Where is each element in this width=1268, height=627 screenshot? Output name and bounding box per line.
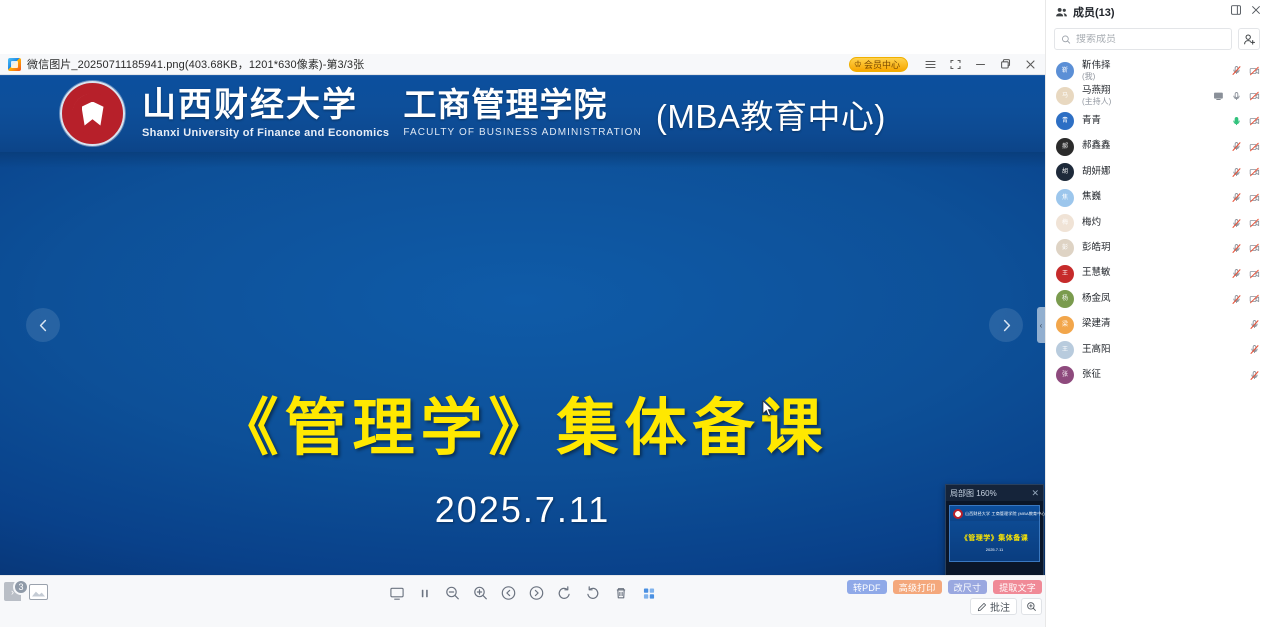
toolbar-center-group bbox=[384, 581, 661, 605]
member-row[interactable]: 梁梁建清 bbox=[1046, 312, 1268, 337]
extract-text-button[interactable]: 提取文字 bbox=[993, 580, 1042, 594]
members-search-row bbox=[1046, 24, 1268, 56]
member-row[interactable]: 青青青 bbox=[1046, 109, 1268, 134]
mic-status[interactable] bbox=[1249, 319, 1260, 330]
slide-header: 山西财经大学 Shanxi University of Finance and … bbox=[0, 75, 1045, 152]
maximize-button[interactable] bbox=[993, 54, 1018, 75]
camera-muted-icon bbox=[1249, 166, 1260, 178]
avatar: 靳 bbox=[1056, 62, 1074, 80]
chevron-right-circle-icon bbox=[529, 585, 545, 601]
panel-collapse-handle[interactable]: ‹ bbox=[1037, 307, 1045, 343]
avatar: 杨 bbox=[1056, 290, 1074, 308]
member-status-icons bbox=[1249, 319, 1260, 330]
member-name: 梁建清 bbox=[1082, 319, 1241, 330]
member-row[interactable]: 马马燕翔(主持人) bbox=[1046, 83, 1268, 108]
member-name-block: 彭皓玥 bbox=[1082, 243, 1223, 254]
member-status-icons bbox=[1231, 243, 1260, 254]
member-status-icons bbox=[1249, 344, 1260, 355]
mic-status[interactable] bbox=[1231, 243, 1242, 254]
university-name-en: Shanxi University of Finance and Economi… bbox=[142, 127, 389, 139]
zoom-out-button[interactable] bbox=[440, 581, 465, 605]
member-row[interactable]: 王王慧敏 bbox=[1046, 261, 1268, 286]
member-status-icons bbox=[1231, 167, 1260, 178]
detail-window-close-icon[interactable]: ✕ bbox=[1031, 488, 1039, 499]
members-panel-actions bbox=[1230, 3, 1262, 21]
mic-muted-icon bbox=[1249, 319, 1260, 330]
mic-muted-icon bbox=[1249, 370, 1260, 381]
detail-mini-title: 《管理学》集体备课 bbox=[950, 533, 1039, 543]
slide-header-text: 山西财经大学 Shanxi University of Finance and … bbox=[142, 88, 886, 140]
mba-center-label: (MBA教育中心) bbox=[656, 90, 886, 138]
camera-muted-icon bbox=[1249, 141, 1260, 153]
advanced-print-label: 高级打印 bbox=[899, 581, 936, 594]
slide-title: 《管理学》集体备课 bbox=[0, 377, 1045, 467]
university-crest-icon bbox=[60, 81, 125, 146]
zoom-in-icon bbox=[473, 585, 489, 601]
delete-button[interactable] bbox=[608, 581, 633, 605]
member-status-icons bbox=[1231, 65, 1260, 76]
avatar: 马 bbox=[1056, 87, 1074, 105]
viewer-window-controls: ♔ 会员中心 bbox=[849, 54, 1043, 75]
magnifier-button[interactable] bbox=[1021, 598, 1042, 615]
next-image-button[interactable] bbox=[524, 581, 549, 605]
member-name: 胡妍娜 bbox=[1082, 167, 1223, 178]
member-name-block: 梅灼 bbox=[1082, 218, 1223, 229]
toolbar-mini-actions: 批注 bbox=[970, 598, 1042, 615]
members-panel-title: 成员(13) bbox=[1073, 4, 1115, 20]
member-status-icons bbox=[1231, 141, 1260, 152]
toolbar-right-group: 转PDF 高级打印 改尺寸 提取文字 bbox=[847, 580, 1042, 615]
avatar: 郝 bbox=[1056, 138, 1074, 156]
chevron-left-circle-icon bbox=[501, 585, 517, 601]
camera-muted-icon bbox=[1249, 192, 1260, 204]
member-row[interactable]: 张张征 bbox=[1046, 363, 1268, 388]
previous-slide-arrow[interactable] bbox=[26, 308, 60, 342]
mic-status[interactable] bbox=[1249, 370, 1260, 381]
minimize-button[interactable] bbox=[968, 54, 993, 75]
mic-status[interactable] bbox=[1231, 91, 1242, 102]
screen-root: 微信图片_20250711185941.png(403.68KB，1201*63… bbox=[0, 0, 1268, 627]
member-status-icons bbox=[1231, 116, 1260, 127]
member-status-icons bbox=[1213, 91, 1260, 102]
mic-muted-icon bbox=[1231, 141, 1242, 152]
membership-center-button[interactable]: ♔ 会员中心 bbox=[849, 57, 908, 72]
close-icon bbox=[1250, 4, 1262, 16]
grid-view-button[interactable] bbox=[636, 581, 661, 605]
member-name: 杨金凤 bbox=[1082, 294, 1223, 305]
rotate-right-button[interactable] bbox=[580, 581, 605, 605]
camera-status[interactable] bbox=[1249, 91, 1260, 102]
mic-status[interactable] bbox=[1231, 167, 1242, 178]
resize-button[interactable]: 改尺寸 bbox=[948, 580, 988, 594]
camera-muted-icon bbox=[1249, 90, 1260, 102]
popout-panel-button[interactable] bbox=[1230, 3, 1242, 21]
mic-status[interactable] bbox=[1231, 218, 1242, 229]
member-name: 靳伟择 bbox=[1082, 61, 1223, 72]
grid-icon bbox=[641, 586, 656, 601]
invite-member-button[interactable] bbox=[1238, 28, 1260, 50]
mic-muted-icon bbox=[1231, 268, 1242, 279]
search-input-wrapper[interactable] bbox=[1054, 28, 1232, 50]
mouse-cursor-icon bbox=[762, 400, 774, 417]
member-status-icons bbox=[1231, 218, 1260, 229]
membership-label: 会员中心 bbox=[864, 58, 900, 71]
camera-status[interactable] bbox=[1249, 268, 1260, 279]
pen-icon bbox=[977, 602, 987, 612]
member-name-block: 王高阳 bbox=[1082, 345, 1241, 356]
member-row[interactable]: 焦焦巍 bbox=[1046, 185, 1268, 210]
convert-pdf-label: 转PDF bbox=[853, 581, 881, 594]
members-list[interactable]: 靳靳伟择(我) 马马燕翔(主持人) 青青青 郝郝鑫鑫 胡胡妍娜 焦焦巍 梅梅灼 … bbox=[1046, 56, 1268, 627]
mini-crest-icon bbox=[953, 509, 963, 519]
faculty-name-en: FACULTY OF BUSINESS ADMINISTRATION bbox=[403, 127, 642, 138]
annotate-label: 批注 bbox=[990, 599, 1010, 614]
member-status-icons bbox=[1231, 192, 1260, 203]
member-name: 王慧敏 bbox=[1082, 268, 1223, 279]
member-row[interactable]: 靳靳伟择(我) bbox=[1046, 58, 1268, 83]
image-viewer-window: 微信图片_20250711185941.png(403.68KB，1201*63… bbox=[0, 54, 1045, 627]
member-status-icons bbox=[1249, 370, 1260, 381]
screen-share-status[interactable] bbox=[1213, 91, 1224, 102]
chevron-right-icon bbox=[999, 318, 1014, 333]
chevron-left-icon bbox=[36, 318, 51, 333]
member-name-block: 焦巍 bbox=[1082, 192, 1223, 203]
member-name: 彭皓玥 bbox=[1082, 243, 1223, 254]
camera-muted-icon bbox=[1249, 293, 1260, 305]
previous-image-button[interactable] bbox=[496, 581, 521, 605]
mic-status[interactable] bbox=[1231, 116, 1242, 127]
member-name-block: 杨金凤 bbox=[1082, 294, 1223, 305]
avatar: 王 bbox=[1056, 265, 1074, 283]
next-slide-arrow[interactable] bbox=[989, 308, 1023, 342]
viewer-title: 微信图片_20250711185941.png(403.68KB，1201*63… bbox=[27, 56, 364, 72]
member-status-icons bbox=[1231, 294, 1260, 305]
mic-status[interactable] bbox=[1231, 268, 1242, 279]
member-name-block: 郝鑫鑫 bbox=[1082, 141, 1223, 152]
viewer-toolbar: › 3 bbox=[0, 575, 1045, 627]
search-icon bbox=[1061, 34, 1071, 45]
avatar: 焦 bbox=[1056, 189, 1074, 207]
pause-icon bbox=[417, 586, 432, 601]
avatar: 彭 bbox=[1056, 239, 1074, 257]
member-name: 青青 bbox=[1082, 116, 1223, 127]
camera-status[interactable] bbox=[1249, 294, 1260, 305]
detail-window-titlebar: 局部图 160% ✕ bbox=[946, 485, 1043, 501]
member-name-block: 梁建清 bbox=[1082, 319, 1241, 330]
mic-muted-icon bbox=[1231, 294, 1242, 305]
mic-muted-icon bbox=[1231, 167, 1242, 178]
rotate-left-icon bbox=[557, 585, 573, 601]
member-name: 王高阳 bbox=[1082, 345, 1241, 356]
zoom-out-icon bbox=[445, 585, 461, 601]
member-name: 马燕翔 bbox=[1082, 86, 1205, 97]
member-name-block: 马燕翔(主持人) bbox=[1082, 86, 1205, 106]
camera-muted-icon bbox=[1249, 242, 1260, 254]
monitor-icon bbox=[389, 586, 404, 601]
mic-active-icon bbox=[1231, 116, 1242, 127]
people-icon bbox=[1055, 6, 1068, 19]
members-panel-header: 成员(13) bbox=[1046, 0, 1268, 24]
member-role: (主持人) bbox=[1082, 97, 1205, 106]
close-button[interactable] bbox=[1018, 54, 1043, 75]
magnifier-icon bbox=[1026, 601, 1037, 612]
camera-muted-icon bbox=[1249, 217, 1260, 229]
member-name: 梅灼 bbox=[1082, 218, 1223, 229]
member-row[interactable]: 梅梅灼 bbox=[1046, 210, 1268, 235]
detail-mini-date: 2025.7.11 bbox=[950, 547, 1039, 552]
member-role: (我) bbox=[1082, 72, 1223, 81]
add-person-icon bbox=[1243, 33, 1256, 46]
toolbar-left-group: › 3 bbox=[4, 582, 48, 601]
member-name-block: 青青 bbox=[1082, 116, 1223, 127]
slide-date: 2025.7.11 bbox=[0, 489, 1045, 531]
mic-status[interactable] bbox=[1231, 65, 1242, 76]
mic-muted-icon bbox=[1231, 65, 1242, 76]
camera-status[interactable] bbox=[1249, 192, 1260, 203]
mic-icon bbox=[1231, 91, 1242, 102]
member-name-block: 张征 bbox=[1082, 370, 1241, 381]
member-row[interactable]: 郝郝鑫鑫 bbox=[1046, 134, 1268, 159]
detail-view-window[interactable]: 局部图 160% ✕ 山西财经大学 工商管理学院 (MBA教育中心) 《管理学》… bbox=[945, 484, 1044, 575]
mic-muted-icon bbox=[1249, 344, 1260, 355]
annotate-button[interactable]: 批注 bbox=[970, 598, 1017, 615]
avatar: 王 bbox=[1056, 341, 1074, 359]
sidebar-toggle[interactable]: › 3 bbox=[4, 582, 21, 601]
mic-muted-icon bbox=[1231, 192, 1242, 203]
resize-label: 改尺寸 bbox=[954, 581, 982, 594]
member-row[interactable]: 彭彭皓玥 bbox=[1046, 236, 1268, 261]
faculty-name-cn: 工商管理学院 bbox=[403, 88, 642, 123]
menu-button[interactable] bbox=[918, 54, 943, 75]
member-name: 郝鑫鑫 bbox=[1082, 141, 1223, 152]
rotate-left-button[interactable] bbox=[552, 581, 577, 605]
camera-muted-icon bbox=[1249, 65, 1260, 77]
thumbnail-toggle[interactable] bbox=[29, 584, 48, 600]
detail-mini-header: 山西财经大学 工商管理学院 (MBA教育中心) bbox=[950, 506, 1039, 521]
fullscreen-button[interactable] bbox=[943, 54, 968, 75]
member-name-block: 胡妍娜 bbox=[1082, 167, 1223, 178]
rotate-right-icon bbox=[585, 585, 601, 601]
mic-status[interactable] bbox=[1231, 192, 1242, 203]
member-row[interactable]: 杨杨金凤 bbox=[1046, 287, 1268, 312]
image-canvas[interactable]: 山西财经大学 Shanxi University of Finance and … bbox=[0, 75, 1045, 575]
extract-text-label: 提取文字 bbox=[999, 581, 1036, 594]
detail-mini-slide: 山西财经大学 工商管理学院 (MBA教育中心) 《管理学》集体备课 2025.7… bbox=[949, 505, 1040, 562]
advanced-print-button[interactable]: 高级打印 bbox=[893, 580, 942, 594]
camera-status[interactable] bbox=[1249, 218, 1260, 229]
camera-status[interactable] bbox=[1249, 243, 1260, 254]
avatar: 梁 bbox=[1056, 316, 1074, 334]
avatar: 梅 bbox=[1056, 214, 1074, 232]
mic-muted-icon bbox=[1231, 243, 1242, 254]
popout-icon bbox=[1230, 4, 1242, 16]
detail-window-title: 局部图 160% bbox=[950, 488, 1031, 499]
crown-icon: ♔ bbox=[854, 60, 862, 69]
camera-muted-icon bbox=[1249, 115, 1260, 127]
university-name-cn: 山西财经大学 bbox=[142, 88, 389, 124]
member-row[interactable]: 胡胡妍娜 bbox=[1046, 160, 1268, 185]
screen-share-icon bbox=[1213, 90, 1224, 102]
avatar: 青 bbox=[1056, 112, 1074, 130]
trash-icon bbox=[613, 586, 628, 601]
zoom-in-button[interactable] bbox=[468, 581, 493, 605]
member-row[interactable]: 王王高阳 bbox=[1046, 337, 1268, 362]
member-name-block: 王慧敏 bbox=[1082, 268, 1223, 279]
avatar: 张 bbox=[1056, 366, 1074, 384]
present-button[interactable] bbox=[384, 581, 409, 605]
search-input[interactable] bbox=[1076, 34, 1225, 45]
convert-pdf-button[interactable]: 转PDF bbox=[847, 580, 887, 594]
slide-image: 山西财经大学 Shanxi University of Finance and … bbox=[0, 75, 1045, 575]
mic-status[interactable] bbox=[1231, 294, 1242, 305]
viewer-titlebar: 微信图片_20250711185941.png(403.68KB，1201*63… bbox=[0, 54, 1045, 75]
mic-muted-icon bbox=[1231, 218, 1242, 229]
avatar: 胡 bbox=[1056, 163, 1074, 181]
member-status-icons bbox=[1231, 268, 1260, 279]
detail-window-body: 山西财经大学 工商管理学院 (MBA教育中心) 《管理学》集体备课 2025.7… bbox=[946, 501, 1043, 575]
close-panel-button[interactable] bbox=[1250, 3, 1262, 21]
member-name: 焦巍 bbox=[1082, 192, 1223, 203]
photo-viewer-icon bbox=[8, 58, 21, 71]
slideshow-pause-button[interactable] bbox=[412, 581, 437, 605]
mic-status[interactable] bbox=[1231, 141, 1242, 152]
mic-status[interactable] bbox=[1249, 344, 1260, 355]
camera-status[interactable] bbox=[1249, 116, 1260, 127]
quick-action-pills: 转PDF 高级打印 改尺寸 提取文字 bbox=[847, 580, 1042, 594]
members-panel: 成员(13) bbox=[1045, 0, 1268, 627]
camera-status[interactable] bbox=[1249, 167, 1260, 178]
camera-status[interactable] bbox=[1249, 65, 1260, 76]
camera-muted-icon bbox=[1249, 268, 1260, 280]
camera-status[interactable] bbox=[1249, 141, 1260, 152]
member-name-block: 靳伟择(我) bbox=[1082, 61, 1223, 81]
detail-mini-header-text: 山西财经大学 工商管理学院 (MBA教育中心) bbox=[965, 511, 1045, 517]
member-name: 张征 bbox=[1082, 370, 1241, 381]
page-badge: 3 bbox=[13, 579, 29, 595]
